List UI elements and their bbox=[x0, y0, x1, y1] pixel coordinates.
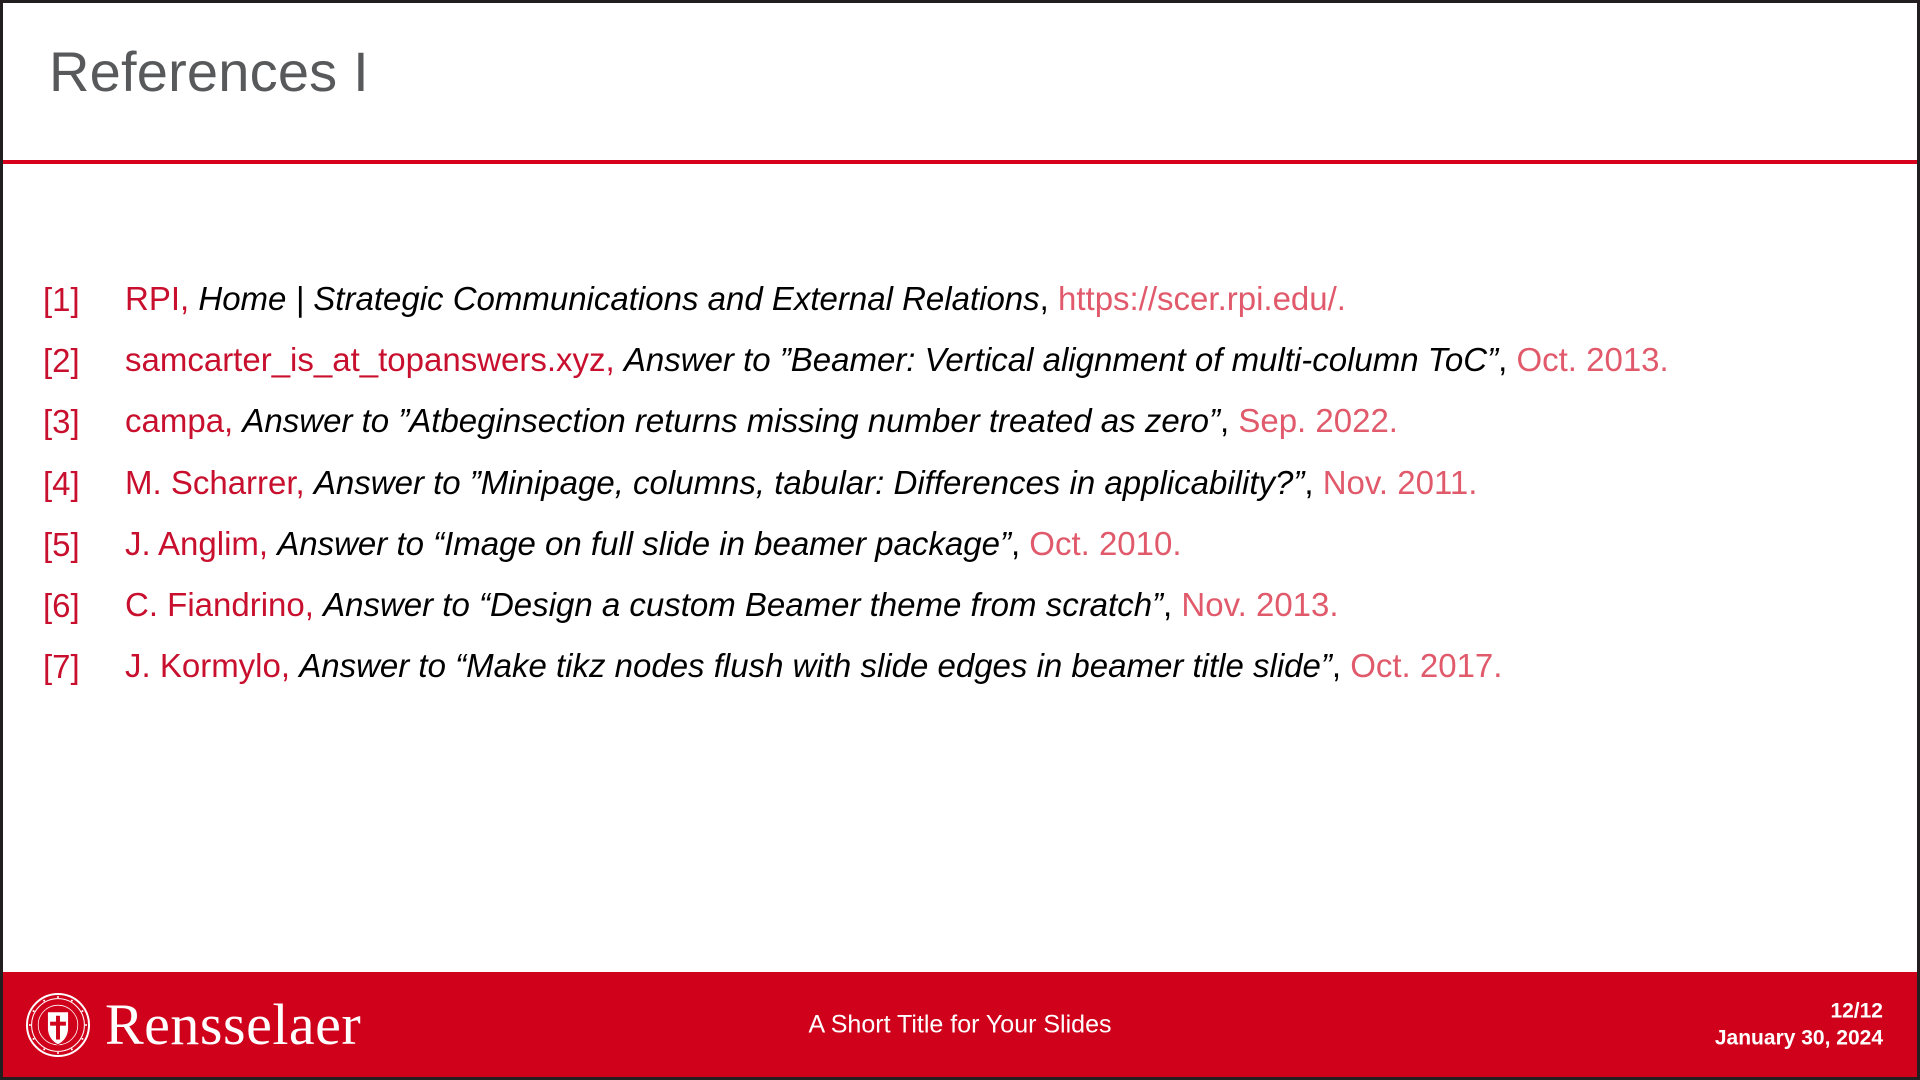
reference-text: J. Kormylo, Answer to “Make tikz nodes f… bbox=[125, 645, 1877, 687]
reference-title: Answer to ”Beamer: Vertical alignment of… bbox=[624, 341, 1498, 378]
reference-entry: [6]C. Fiandrino, Answer to “Design a cus… bbox=[43, 584, 1877, 627]
reference-entry: [7]J. Kormylo, Answer to “Make tikz node… bbox=[43, 645, 1877, 688]
reference-author: M. Scharrer, bbox=[125, 464, 305, 501]
reference-title: Answer to “Image on full slide in beamer… bbox=[277, 525, 1011, 562]
reference-entry: [5]J. Anglim, Answer to “Image on full s… bbox=[43, 523, 1877, 566]
reference-author: C. Fiandrino, bbox=[125, 586, 314, 623]
slide-footer: Rensselaer A Short Title for Your Slides… bbox=[3, 972, 1917, 1077]
reference-label: [6] bbox=[43, 584, 125, 627]
reference-label: [1] bbox=[43, 278, 125, 321]
reference-separator: , bbox=[1040, 280, 1049, 317]
reference-text: J. Anglim, Answer to “Image on full slid… bbox=[125, 523, 1877, 565]
reference-title: Answer to “Design a custom Beamer theme … bbox=[323, 586, 1163, 623]
presentation-date: January 30, 2024 bbox=[1715, 1025, 1883, 1053]
reference-meta[interactable]: Oct. 2013. bbox=[1516, 341, 1668, 378]
reference-text: campa, Answer to ”Atbeginsection returns… bbox=[125, 400, 1877, 442]
reference-text: RPI, Home | Strategic Communications and… bbox=[125, 278, 1877, 320]
reference-separator: , bbox=[1304, 464, 1313, 501]
page-title: References I bbox=[49, 39, 369, 104]
footer-meta: 12/12 January 30, 2024 bbox=[1715, 997, 1883, 1052]
reference-author: campa, bbox=[125, 402, 233, 439]
slide-title-block: References I bbox=[3, 3, 1917, 163]
presentation-slide: References I [1]RPI, Home | Strategic Co… bbox=[0, 0, 1920, 1080]
reference-author: J. Anglim, bbox=[125, 525, 268, 562]
reference-separator: , bbox=[1163, 586, 1172, 623]
references-list: [1]RPI, Home | Strategic Communications … bbox=[3, 278, 1920, 707]
reference-meta[interactable]: https://scer.rpi.edu/. bbox=[1058, 280, 1346, 317]
reference-entry: [2]samcarter_is_at_topanswers.xyz, Answe… bbox=[43, 339, 1877, 382]
reference-label: [7] bbox=[43, 645, 125, 688]
footer-short-title: A Short Title for Your Slides bbox=[809, 1010, 1112, 1039]
frame-number: 12/12 bbox=[1715, 997, 1883, 1025]
reference-label: [3] bbox=[43, 400, 125, 443]
reference-entry: [3]campa, Answer to ”Atbeginsection retu… bbox=[43, 400, 1877, 443]
reference-meta[interactable]: Nov. 2013. bbox=[1181, 586, 1338, 623]
reference-separator: , bbox=[1498, 341, 1507, 378]
reference-entry: [1]RPI, Home | Strategic Communications … bbox=[43, 278, 1877, 321]
reference-meta[interactable]: Oct. 2017. bbox=[1350, 647, 1502, 684]
reference-separator: , bbox=[1332, 647, 1341, 684]
reference-title: Answer to ”Atbeginsection returns missin… bbox=[242, 402, 1220, 439]
reference-text: C. Fiandrino, Answer to “Design a custom… bbox=[125, 584, 1877, 626]
rensselaer-seal-icon bbox=[25, 992, 91, 1058]
reference-author: J. Kormylo, bbox=[125, 647, 290, 684]
reference-separator: , bbox=[1220, 402, 1229, 439]
reference-title: Home | Strategic Communications and Exte… bbox=[198, 280, 1039, 317]
reference-title: Answer to ”Minipage, columns, tabular: D… bbox=[314, 464, 1304, 501]
reference-text: M. Scharrer, Answer to ”Minipage, column… bbox=[125, 462, 1877, 504]
institution-logo: Rensselaer bbox=[25, 992, 361, 1058]
reference-meta[interactable]: Sep. 2022. bbox=[1238, 402, 1398, 439]
reference-title: Answer to “Make tikz nodes flush with sl… bbox=[299, 647, 1332, 684]
reference-text: samcarter_is_at_topanswers.xyz, Answer t… bbox=[125, 339, 1877, 381]
reference-entry: [4]M. Scharrer, Answer to ”Minipage, col… bbox=[43, 462, 1877, 505]
reference-separator: , bbox=[1011, 525, 1020, 562]
reference-label: [5] bbox=[43, 523, 125, 566]
reference-label: [4] bbox=[43, 462, 125, 505]
reference-meta[interactable]: Nov. 2011. bbox=[1323, 464, 1478, 501]
reference-label: [2] bbox=[43, 339, 125, 382]
title-divider bbox=[3, 160, 1917, 164]
reference-author: RPI, bbox=[125, 280, 189, 317]
reference-author: samcarter_is_at_topanswers.xyz, bbox=[125, 341, 615, 378]
reference-meta[interactable]: Oct. 2010. bbox=[1029, 525, 1181, 562]
institution-name: Rensselaer bbox=[105, 996, 361, 1054]
